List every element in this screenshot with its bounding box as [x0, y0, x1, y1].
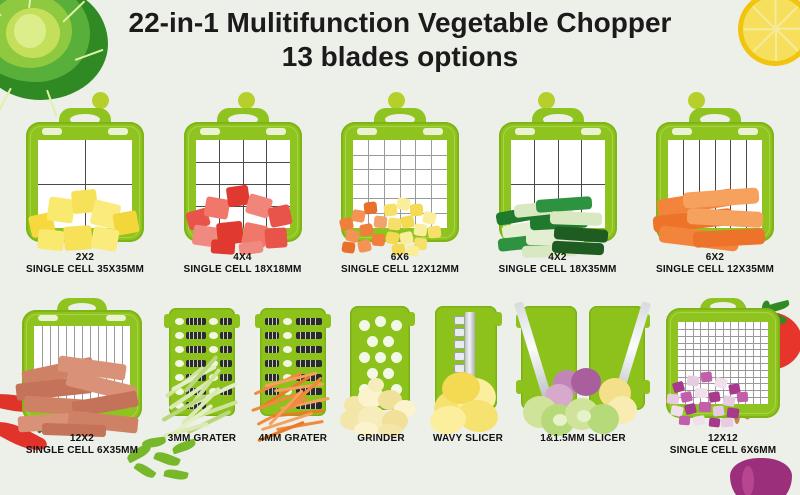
grater-slot: [220, 388, 232, 395]
blade-name: 3MM GRATER: [168, 433, 236, 445]
frame-tab: [672, 128, 692, 135]
grater-body: [260, 308, 326, 416]
frame-tab: [200, 128, 220, 135]
blade-name: 12X12: [670, 433, 777, 445]
frame-tab: [515, 128, 535, 135]
blade-item-2x2[interactable]: 2X2 SINGLE CELL 35X35MM: [20, 108, 150, 276]
blade-labels: 6X6 SINGLE CELL 12X12MM: [341, 252, 459, 276]
grinder-hole: [359, 384, 370, 395]
grater-knob: [209, 374, 218, 381]
grater-slot: [296, 402, 322, 409]
grinder-ear: [408, 312, 415, 326]
blade-item-4x4[interactable]: 4X4 SINGLE CELL 18X18MM: [178, 108, 308, 276]
page-title-line2: 13 blades options: [0, 40, 800, 74]
blade-name: 6X6: [341, 252, 459, 264]
frame-tab: [108, 128, 128, 135]
grater-slot: [220, 374, 232, 381]
grater-slot: [220, 360, 232, 367]
frame-tab: [38, 315, 58, 321]
blade-frame: [666, 308, 780, 418]
slicer-metal-blade: [608, 301, 651, 416]
grater-knob: [175, 360, 184, 367]
blade-name: 6X2: [656, 252, 774, 264]
grinder-hole: [391, 352, 402, 363]
blade-item-12x12[interactable]: 12X12 SINGLE CELL 6X6MM: [660, 298, 786, 457]
grater-knob: [175, 318, 184, 325]
grater-knob: [175, 332, 184, 339]
grater-slot: [296, 374, 322, 381]
blade-name: 4X4: [183, 252, 301, 264]
grater-knob: [209, 318, 218, 325]
blade-labels: 1&1.5MM SLICER: [540, 433, 626, 445]
blade-item-slicer-pair[interactable]: 1&1.5MM SLICER: [519, 298, 647, 445]
decor-dot-icon: [92, 92, 109, 109]
frame-tab: [357, 128, 377, 135]
blade-name: 12X2: [26, 433, 138, 445]
grater-knob: [175, 374, 184, 381]
wavy-tooth: [454, 328, 465, 337]
grater-knob: [175, 402, 184, 409]
blade-name: 1&1.5MM SLICER: [540, 433, 626, 445]
decor-dot-icon: [388, 92, 405, 109]
grater-slot: [220, 318, 232, 325]
blade-spec: SINGLE CELL 6X6MM: [670, 445, 777, 457]
frame-tab: [106, 315, 126, 321]
grater-knob: [175, 346, 184, 353]
blade-frame: [656, 122, 774, 242]
blade-grid: [34, 326, 130, 408]
blade-frame: [499, 122, 617, 242]
slicer-body-right: [589, 306, 645, 410]
blade-row-1: 2X2 SINGLE CELL 35X35MM: [20, 108, 780, 276]
blade-name: WAVY SLICER: [433, 433, 503, 445]
grater-slot: [220, 346, 232, 353]
grinder-hole: [391, 384, 402, 395]
blade-frame: [184, 122, 302, 242]
frame-tab: [266, 128, 286, 135]
frame-tab: [581, 128, 601, 135]
grater-ear: [164, 314, 171, 328]
blade-grid: [511, 140, 605, 228]
grater-slot: [296, 332, 322, 339]
grater-slot: [265, 346, 279, 353]
slicer-ear: [643, 380, 650, 394]
blade-labels: 4X4 SINGLE CELL 18X18MM: [183, 252, 301, 276]
grater-knob: [175, 388, 184, 395]
grater-slot: [186, 360, 206, 367]
grater-knob: [283, 374, 292, 381]
grater-slot: [265, 388, 279, 395]
grater-slot: [186, 332, 206, 339]
blade-frame: [26, 122, 144, 242]
blade-item-wavy-slicer[interactable]: WAVY SLICER: [430, 298, 506, 445]
blade-labels: 4X2 SINGLE CELL 18X35MM: [498, 252, 616, 276]
grinder-hole: [367, 336, 378, 347]
decor-dot-icon: [238, 92, 255, 109]
infographic-page: 22-in-1 Mulitifunction Vegetable Chopper…: [0, 0, 800, 495]
blade-labels: 6X2 SINGLE CELL 12X35MM: [656, 252, 774, 276]
wavy-tooth: [454, 376, 465, 385]
grater-slot: [296, 346, 322, 353]
grinder-hole: [375, 352, 386, 363]
grater-knob: [283, 346, 292, 353]
grater-slot: [186, 374, 206, 381]
grater-slot: [265, 374, 279, 381]
page-header: 22-in-1 Mulitifunction Vegetable Chopper…: [0, 6, 800, 74]
grater-ear: [324, 314, 331, 328]
blade-row-2: 12X2 SINGLE CELL 6X35MM: [14, 298, 786, 457]
blade-spec: SINGLE CELL 18X35MM: [498, 264, 616, 276]
grater-knob: [283, 388, 292, 395]
blade-item-grinder[interactable]: GRINDER: [345, 298, 417, 445]
wavy-tooth: [454, 388, 465, 397]
grinder-hole: [383, 336, 394, 347]
onion-icon: [730, 452, 796, 495]
slicer-ear: [516, 380, 523, 394]
grinder-hole: [359, 352, 370, 363]
blade-name: 4X2: [498, 252, 616, 264]
page-title-line1: 22-in-1 Mulitifunction Vegetable Chopper: [0, 6, 800, 40]
blade-spec: SINGLE CELL 35X35MM: [26, 264, 144, 276]
blade-labels: 12X2 SINGLE CELL 6X35MM: [26, 433, 138, 457]
wavy-metal-blade: [465, 312, 475, 404]
blade-spec: SINGLE CELL 12X35MM: [656, 264, 774, 276]
frame-tab: [738, 128, 758, 135]
wavy-tooth: [454, 316, 465, 325]
slicer-metal-blade: [514, 301, 557, 416]
blade-name: 2X2: [26, 252, 144, 264]
grater-knob: [209, 346, 218, 353]
blade-grid: [353, 140, 447, 228]
grater-slot: [220, 332, 232, 339]
slicer-body-left: [521, 306, 577, 410]
blade-item-6x6[interactable]: 6X6 SINGLE CELL 12X12MM: [335, 108, 465, 276]
grinder-hole: [359, 320, 370, 331]
blade-item-3mm-grater[interactable]: 3MM GRATER: [163, 298, 241, 445]
frame-tab: [42, 128, 62, 135]
grater-slot: [296, 360, 322, 367]
decor-dot-icon: [688, 92, 705, 109]
grinder-body: [350, 306, 410, 410]
frame-tab: [423, 128, 443, 135]
blade-spec: SINGLE CELL 18X18MM: [183, 264, 301, 276]
blade-name: 4MM GRATER: [259, 433, 327, 445]
blade-labels: 4MM GRATER: [259, 433, 327, 445]
grater-knob: [283, 318, 292, 325]
blade-labels: 3MM GRATER: [168, 433, 236, 445]
grater-ear: [255, 314, 262, 328]
grater-slot: [296, 318, 322, 325]
blade-grid: [38, 140, 132, 228]
blade-labels: 2X2 SINGLE CELL 35X35MM: [26, 252, 144, 276]
grinder-hole: [391, 320, 402, 331]
grater-slot: [186, 346, 206, 353]
grater-slot: [186, 318, 206, 325]
grater-slot: [186, 402, 206, 409]
wavy-slicer-body: [435, 306, 497, 410]
wavy-tooth: [454, 364, 465, 373]
blade-labels: 12X12 SINGLE CELL 6X6MM: [670, 433, 777, 457]
grinder-hole: [367, 368, 378, 379]
grater-knob: [209, 360, 218, 367]
grater-knob: [209, 388, 218, 395]
grater-slot: [265, 360, 279, 367]
grater-body: [169, 308, 235, 416]
grater-knob: [283, 332, 292, 339]
wavy-tooth: [454, 340, 465, 349]
blade-item-12x2[interactable]: 12X2 SINGLE CELL 6X35MM: [14, 298, 150, 457]
grinder-hole: [383, 368, 394, 379]
blade-labels: GRINDER: [357, 433, 405, 445]
grinder-hole: [375, 316, 386, 327]
blade-frame: [341, 122, 459, 242]
grater-ear: [233, 314, 240, 328]
blade-grid: [668, 140, 762, 228]
blade-spec: SINGLE CELL 12X12MM: [341, 264, 459, 276]
blade-name: GRINDER: [357, 433, 405, 445]
grater-slot: [265, 332, 279, 339]
grater-slot: [186, 388, 206, 395]
blade-grid: [678, 322, 768, 404]
wavy-tooth: [454, 352, 465, 361]
blade-item-6x2[interactable]: 6X2 SINGLE CELL 12X35MM: [650, 108, 780, 276]
grater-slot: [265, 318, 279, 325]
grater-knob: [209, 332, 218, 339]
slicer-ear: [495, 312, 502, 326]
blade-grid: [196, 140, 290, 228]
blade-item-4mm-grater[interactable]: 4MM GRATER: [254, 298, 332, 445]
grater-slot: [296, 388, 322, 395]
blade-frame: [22, 310, 142, 422]
blade-labels: WAVY SLICER: [433, 433, 503, 445]
grater-knob: [283, 360, 292, 367]
blade-spec: SINGLE CELL 6X35MM: [26, 445, 138, 457]
decor-dot-icon: [538, 92, 555, 109]
blade-item-4x2[interactable]: 4X2 SINGLE CELL 18X35MM: [493, 108, 623, 276]
